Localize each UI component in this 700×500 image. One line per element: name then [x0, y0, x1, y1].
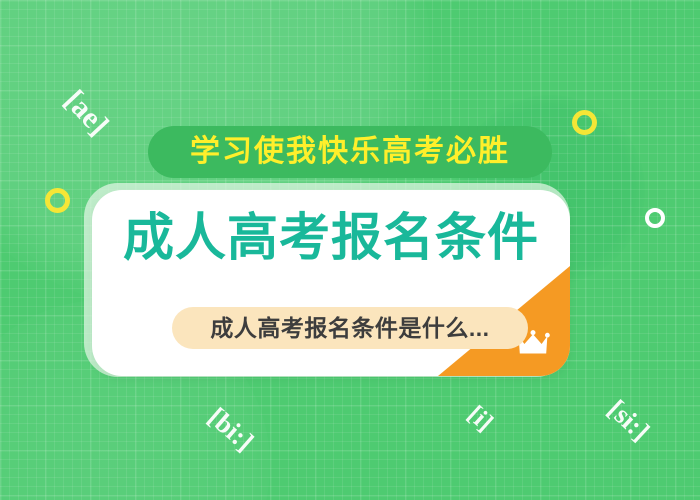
banner-text: 学习使我快乐高考必胜 — [190, 137, 510, 167]
ring-white-right-icon — [645, 208, 665, 228]
main-card: 成人高考报名条件 成人高考报名条件是什么... — [92, 190, 570, 376]
ring-yellow-left-icon — [45, 188, 70, 213]
subtitle-text: 成人高考报名条件是什么... — [210, 317, 489, 340]
phonetic-si-decoration: [si:] — [601, 394, 655, 447]
page-title: 成人高考报名条件 — [92, 212, 570, 263]
poster-canvas: [ae] [bi:] [i] [si:] 学习使我快乐高考必胜 成人高考报名条件… — [0, 0, 700, 500]
phonetic-i-decoration: [i] — [462, 401, 498, 438]
subtitle-pill: 成人高考报名条件是什么... — [172, 307, 528, 349]
ring-yellow-right-icon — [572, 110, 597, 135]
banner-pill: 学习使我快乐高考必胜 — [148, 126, 552, 178]
